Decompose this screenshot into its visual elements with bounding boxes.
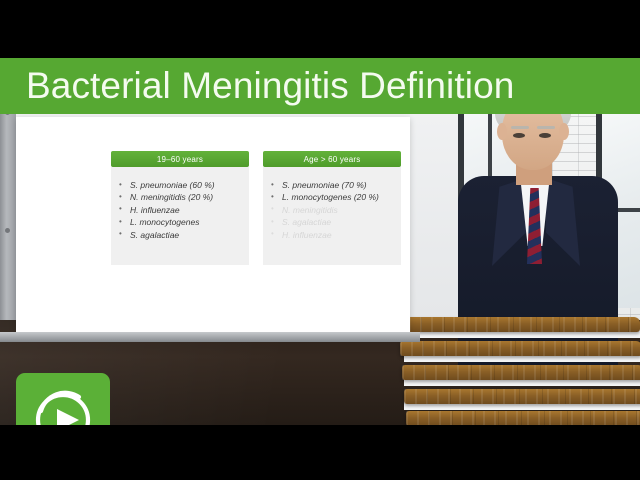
column-header: Age > 60 years (263, 151, 401, 167)
slide-columns: 19–60 years S. pneumoniae (60 %) N. meni… (111, 151, 401, 265)
whiteboard-rail (0, 332, 420, 342)
list-item: S. pneumoniae (70 %) (269, 179, 393, 191)
slide-column-age-over-60: Age > 60 years S. pneumoniae (70 %) L. m… (263, 151, 401, 265)
column-body: S. pneumoniae (60 %) N. meningitidis (20… (111, 167, 249, 265)
lectern (398, 317, 640, 425)
list-item: S. agalactiae (269, 216, 393, 228)
list-item: H. influenzae (269, 229, 393, 241)
column-body: S. pneumoniae (70 %) L. monocytogenes (2… (263, 167, 401, 265)
list-item: S. pneumoniae (60 %) (117, 179, 241, 191)
presentation-slide: 19–60 years S. pneumoniae (60 %) N. meni… (16, 117, 410, 332)
page-title: Bacterial Meningitis Definition (0, 65, 514, 107)
list-item: H. influenzae (117, 204, 241, 216)
list-item: N. meningitidis (20 %) (117, 191, 241, 203)
column-header: 19–60 years (111, 151, 249, 167)
letterbox-bottom (0, 425, 640, 480)
video-title-bar: Bacterial Meningitis Definition (0, 58, 640, 114)
play-circle-logo-icon[interactable] (16, 373, 110, 425)
list-item: N. meningitidis (269, 204, 393, 216)
slide-column-age-19-60: 19–60 years S. pneumoniae (60 %) N. meni… (111, 151, 249, 265)
letterbox-top (0, 0, 640, 58)
list-item: L. monocytogenes (20 %) (269, 191, 393, 203)
list-item: S. agalactiae (117, 229, 241, 241)
video-player-stage: 19–60 years S. pneumoniae (60 %) N. meni… (0, 0, 640, 480)
list-item: L. monocytogenes (117, 216, 241, 228)
